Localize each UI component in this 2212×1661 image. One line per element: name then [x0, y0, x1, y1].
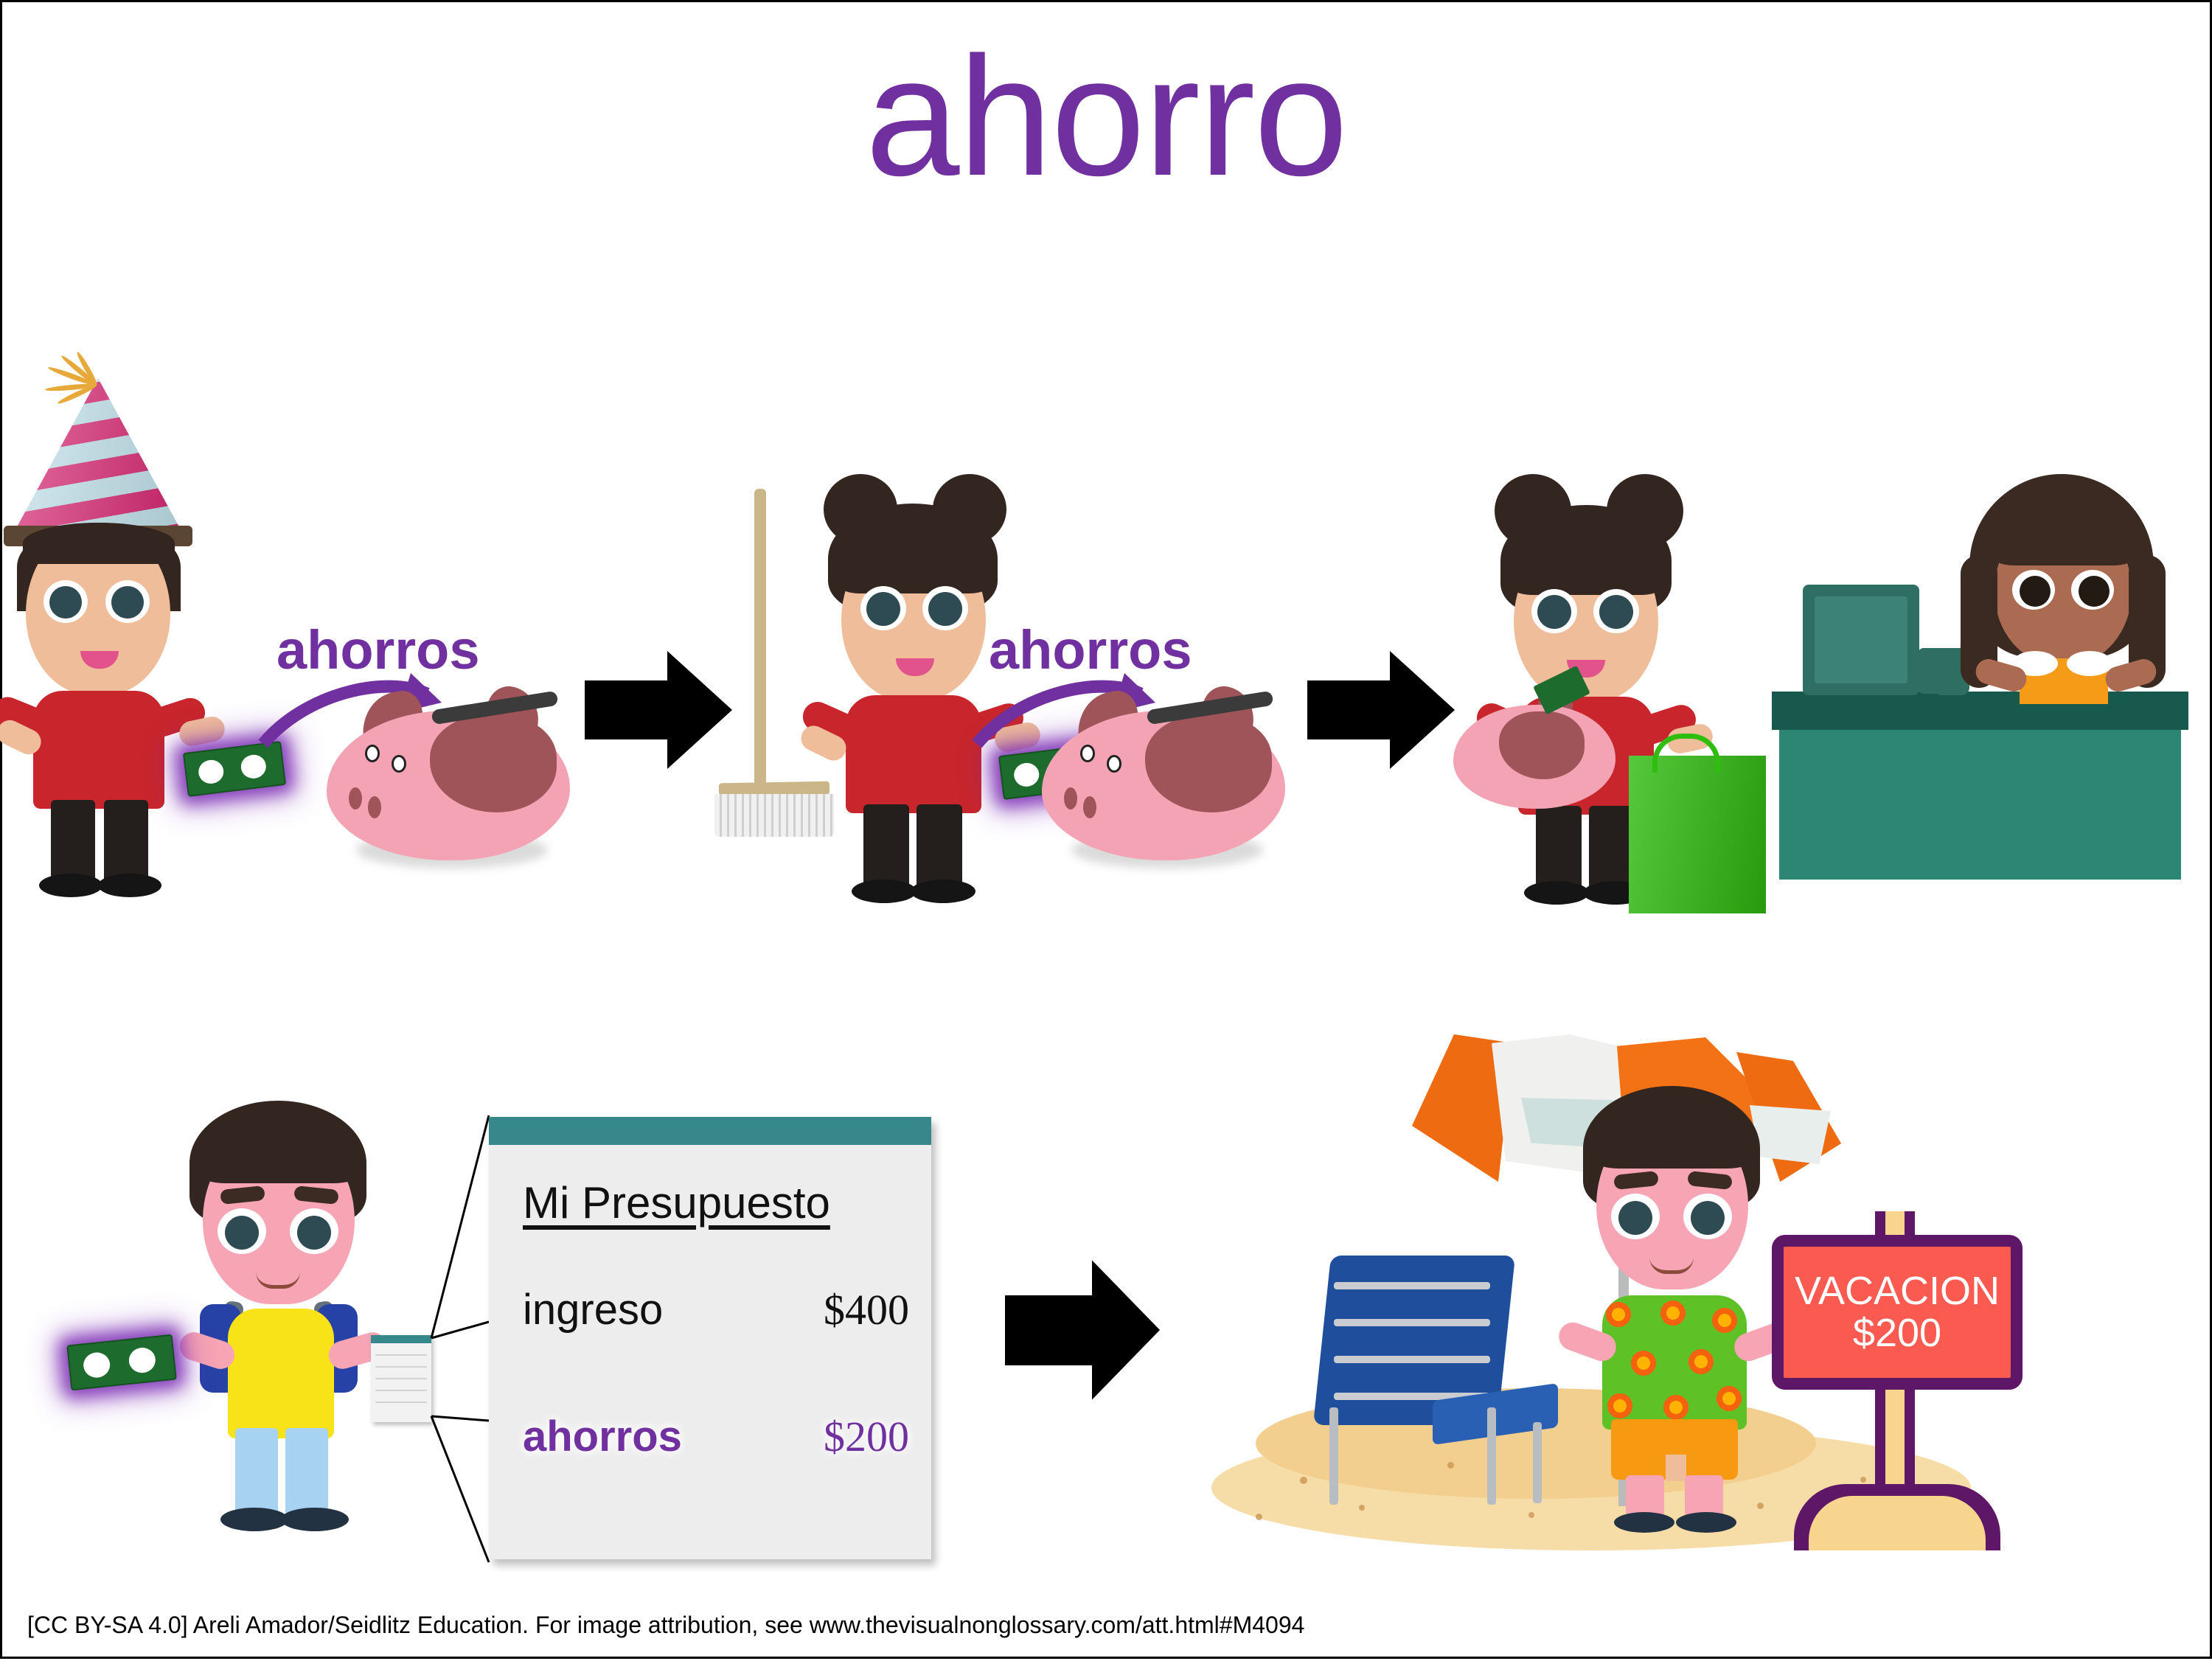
vacation-sign-line2: $200: [1853, 1312, 1941, 1354]
panel-beach-vacation: VACACION $200: [2, 2, 2212, 1661]
vacation-price-sign: VACACION $200: [1772, 1235, 2023, 1390]
slide-canvas: ahorro: [0, 0, 2212, 1659]
boy-at-beach: [1558, 1086, 1809, 1543]
vacation-sign-line1: VACACION: [1795, 1270, 2000, 1312]
floral-shirt: [1602, 1295, 1747, 1430]
sign-base-mound: [1794, 1484, 2000, 1550]
lounge-chair-icon: [1322, 1256, 1565, 1506]
attribution-footer: [CC BY-SA 4.0] Areli Amador/Seidlitz Edu…: [27, 1612, 1304, 1639]
